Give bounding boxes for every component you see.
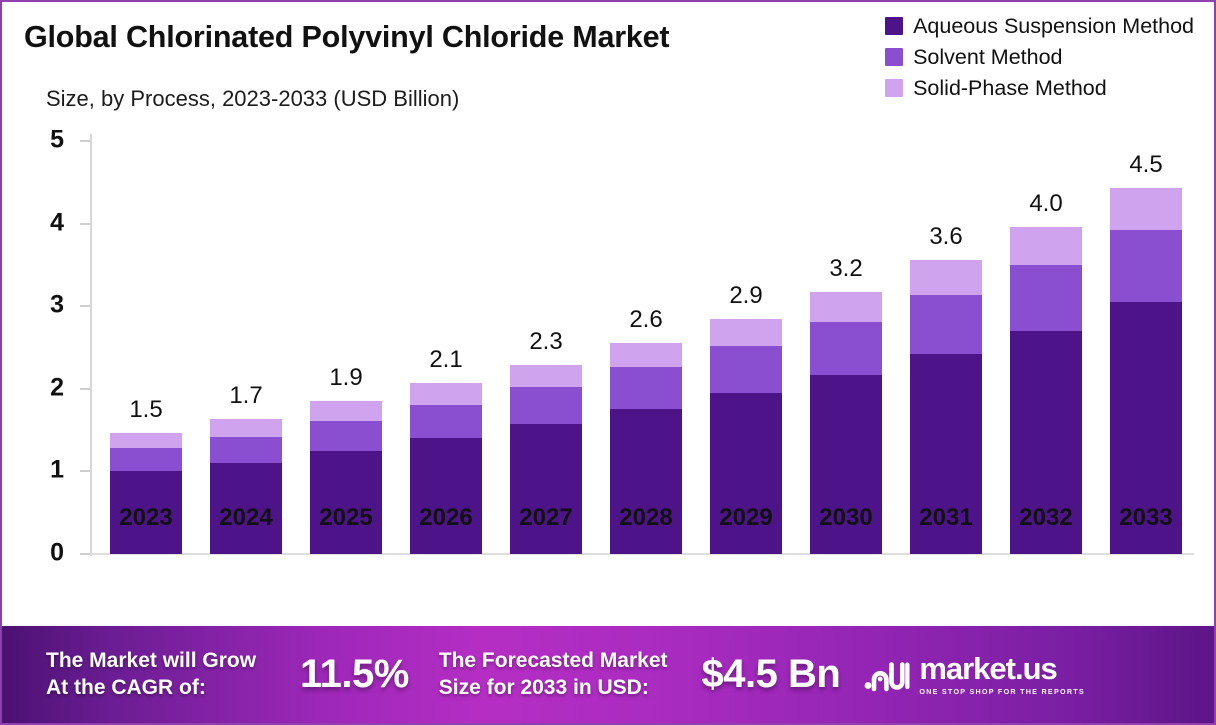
x-axis-tick-label: 2026 bbox=[396, 504, 496, 532]
bar-segment[interactable] bbox=[110, 448, 182, 471]
x-axis-tick-label: 2025 bbox=[296, 504, 396, 532]
chart-infographic: Global Chlorinated Polyvinyl Chloride Ma… bbox=[0, 0, 1216, 725]
x-axis-tick-label: 2030 bbox=[796, 504, 896, 532]
bar-value-label: 3.6 bbox=[896, 223, 996, 251]
x-axis-tick-label: 2029 bbox=[696, 504, 796, 532]
bar-series-container: 1.520231.720241.920252.120262.320272.620… bbox=[96, 2, 1196, 617]
bar-group[interactable]: 1.72024 bbox=[210, 419, 282, 554]
bar-value-label: 4.0 bbox=[996, 190, 1096, 218]
y-axis-tick-mark bbox=[80, 470, 90, 472]
bar-value-label: 3.2 bbox=[796, 255, 896, 283]
y-axis-tick-mark bbox=[80, 305, 90, 307]
bar-segment[interactable] bbox=[1110, 188, 1182, 230]
bar-segment[interactable] bbox=[1110, 230, 1182, 302]
bar-group[interactable]: 2.62028 bbox=[610, 343, 682, 554]
bar-group[interactable]: 3.62031 bbox=[910, 260, 982, 554]
bar-segment[interactable] bbox=[310, 401, 382, 421]
bar-group[interactable]: 4.02032 bbox=[1010, 227, 1082, 554]
bar-value-label: 1.9 bbox=[296, 364, 396, 392]
bar-segment[interactable] bbox=[710, 346, 782, 393]
bar-value-label: 1.5 bbox=[96, 396, 196, 424]
y-axis-tick-label: 1 bbox=[20, 456, 64, 485]
y-axis-tick-mark bbox=[80, 140, 90, 142]
bar-value-label: 2.9 bbox=[696, 282, 796, 310]
bar-segment[interactable] bbox=[810, 292, 882, 322]
cagr-value: 11.5% bbox=[300, 652, 409, 697]
y-axis-line bbox=[90, 134, 92, 556]
chart-plot-area: 012345 1.520231.720241.920252.120262.320… bbox=[2, 2, 1216, 617]
bar-segment[interactable] bbox=[1010, 265, 1082, 331]
brand-wordmark: market.us ONE STOP SHOP FOR THE REPORTS bbox=[919, 653, 1085, 696]
cagr-caption-line1: The Market will Grow bbox=[46, 648, 256, 675]
bar-segment[interactable] bbox=[310, 451, 382, 554]
bar-segment[interactable] bbox=[510, 387, 582, 424]
bar-segment[interactable] bbox=[410, 405, 482, 438]
y-axis-tick-label: 3 bbox=[20, 291, 64, 320]
y-axis-tick-label: 2 bbox=[20, 373, 64, 402]
bar-segment[interactable] bbox=[610, 409, 682, 554]
y-axis-tick-mark bbox=[80, 553, 90, 555]
bar-segment[interactable] bbox=[610, 367, 682, 409]
forecast-caption-line2: Size for 2033 in USD: bbox=[439, 675, 668, 702]
bar-segment[interactable] bbox=[810, 322, 882, 375]
y-axis-tick-label: 4 bbox=[20, 208, 64, 237]
x-axis-tick-label: 2024 bbox=[196, 504, 296, 532]
x-axis-tick-label: 2031 bbox=[896, 504, 996, 532]
forecast-caption: The Forecasted Market Size for 2033 in U… bbox=[439, 648, 668, 701]
stacked-bar[interactable]: 4.5 bbox=[1110, 188, 1182, 554]
x-axis-tick-label: 2032 bbox=[996, 504, 1096, 532]
market-us-logo-icon bbox=[864, 658, 910, 692]
x-axis-tick-label: 2033 bbox=[1096, 504, 1196, 532]
brand-name: market.us bbox=[919, 653, 1056, 684]
bar-value-label: 4.5 bbox=[1096, 151, 1196, 179]
bar-group[interactable]: 4.52033 bbox=[1110, 188, 1182, 554]
bar-group[interactable]: 1.92025 bbox=[310, 401, 382, 554]
y-axis-tick-mark bbox=[80, 388, 90, 390]
bar-group[interactable]: 2.92029 bbox=[710, 319, 782, 554]
stacked-bar[interactable]: 1.5 bbox=[110, 433, 182, 554]
bar-segment[interactable] bbox=[210, 419, 282, 436]
x-axis-tick-label: 2027 bbox=[496, 504, 596, 532]
bar-segment[interactable] bbox=[610, 343, 682, 368]
bar-value-label: 1.7 bbox=[196, 382, 296, 410]
bar-group[interactable]: 1.52023 bbox=[110, 433, 182, 554]
bar-segment[interactable] bbox=[910, 260, 982, 295]
bar-segment[interactable] bbox=[410, 383, 482, 404]
stacked-bar[interactable]: 1.7 bbox=[210, 419, 282, 554]
bar-group[interactable]: 2.32027 bbox=[510, 365, 582, 554]
bar-segment[interactable] bbox=[310, 421, 382, 451]
bar-segment[interactable] bbox=[510, 365, 582, 387]
cagr-caption-line2: At the CAGR of: bbox=[46, 675, 256, 702]
footer-banner: The Market will Grow At the CAGR of: 11.… bbox=[2, 626, 1214, 723]
brand-tagline: ONE STOP SHOP FOR THE REPORTS bbox=[919, 687, 1085, 696]
cagr-caption: The Market will Grow At the CAGR of: bbox=[46, 648, 256, 701]
y-axis-tick-label: 5 bbox=[20, 126, 64, 155]
forecast-caption-line1: The Forecasted Market bbox=[439, 648, 668, 675]
bar-segment[interactable] bbox=[1010, 227, 1082, 265]
bar-group[interactable]: 2.12026 bbox=[410, 383, 482, 554]
x-axis-tick-label: 2023 bbox=[96, 504, 196, 532]
bar-segment[interactable] bbox=[110, 433, 182, 448]
bar-group[interactable]: 3.22030 bbox=[810, 292, 882, 554]
bar-segment[interactable] bbox=[410, 438, 482, 554]
forecast-value: $4.5 Bn bbox=[702, 652, 841, 697]
bar-segment[interactable] bbox=[910, 295, 982, 354]
bar-segment[interactable] bbox=[210, 437, 282, 463]
x-axis-tick-label: 2028 bbox=[596, 504, 696, 532]
y-axis-tick-mark bbox=[80, 223, 90, 225]
bar-value-label: 2.6 bbox=[596, 306, 696, 334]
bar-value-label: 2.3 bbox=[496, 328, 596, 356]
bar-value-label: 2.1 bbox=[396, 346, 496, 374]
brand-logo[interactable]: market.us ONE STOP SHOP FOR THE REPORTS bbox=[864, 653, 1085, 696]
bar-segment[interactable] bbox=[710, 319, 782, 346]
y-axis-tick-label: 0 bbox=[20, 539, 64, 568]
bar-segment[interactable] bbox=[510, 424, 582, 554]
